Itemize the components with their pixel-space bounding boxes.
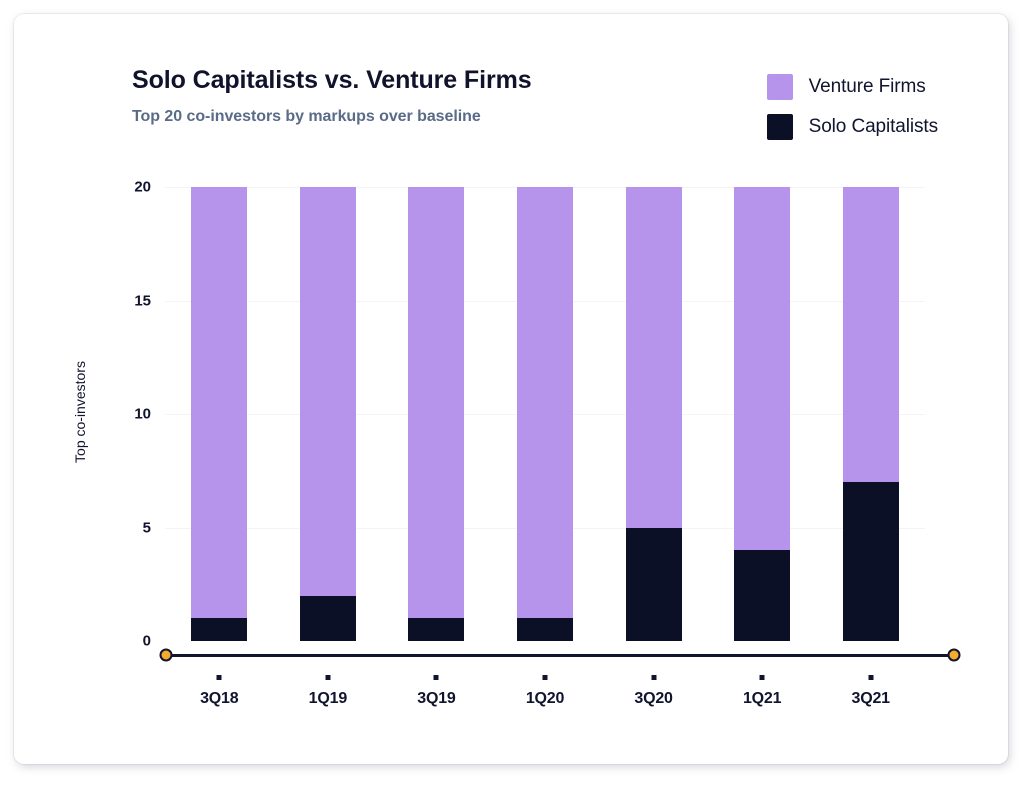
- bars-layer: [165, 187, 925, 641]
- bar-segment-solo-capitalists[interactable]: [408, 618, 464, 641]
- x-axis-tick-dot-icon: [325, 675, 330, 680]
- x-axis-tick-dot-icon: [217, 675, 222, 680]
- x-axis-end-dot-icon: [948, 649, 961, 662]
- bar-segment-solo-capitalists[interactable]: [843, 482, 899, 641]
- bar-segment-venture-firms[interactable]: [300, 187, 356, 596]
- y-axis-tick-label: 5: [143, 519, 151, 536]
- x-axis-tick-label: 1Q20: [526, 690, 564, 708]
- bar-group[interactable]: [626, 187, 682, 641]
- y-axis-tick-label: 15: [134, 292, 151, 309]
- plot-area: 05101520: [165, 187, 925, 641]
- bar-segment-venture-firms[interactable]: [626, 187, 682, 528]
- bar-group[interactable]: [300, 187, 356, 641]
- x-axis-tick-dot-icon: [543, 675, 548, 680]
- bar-group[interactable]: [517, 187, 573, 641]
- bar-group[interactable]: [843, 187, 899, 641]
- bar-segment-solo-capitalists[interactable]: [300, 596, 356, 641]
- x-axis-tick-label: 1Q19: [309, 690, 347, 708]
- x-axis-tick-label: 3Q18: [200, 690, 238, 708]
- chart-card: Solo Capitalists vs. Venture Firms Top 2…: [14, 14, 1008, 764]
- bar-segment-venture-firms[interactable]: [517, 187, 573, 618]
- x-axis-tick-label: 3Q20: [634, 690, 672, 708]
- plot-wrapper: Top co-investors 05101520 3Q181Q193Q191Q…: [14, 14, 1008, 764]
- y-axis-tick-label: 0: [143, 633, 151, 650]
- bar-group[interactable]: [408, 187, 464, 641]
- bar-segment-venture-firms[interactable]: [408, 187, 464, 618]
- x-axis-tick-label: 3Q19: [417, 690, 455, 708]
- x-axis-tick-dot-icon: [434, 675, 439, 680]
- x-axis-tick-dot-icon: [760, 675, 765, 680]
- x-axis-tick-label: 1Q21: [743, 690, 781, 708]
- bar-segment-solo-capitalists[interactable]: [734, 550, 790, 641]
- x-axis-tick-label: 3Q21: [852, 690, 890, 708]
- y-axis-title: Top co-investors: [72, 361, 88, 463]
- x-axis-tick-dot-icon: [651, 675, 656, 680]
- bar-segment-solo-capitalists[interactable]: [517, 618, 573, 641]
- x-axis-line: [165, 654, 955, 657]
- y-axis-tick-label: 20: [134, 179, 151, 196]
- gridline: [165, 641, 925, 642]
- bar-group[interactable]: [734, 187, 790, 641]
- x-axis-start-dot-icon: [160, 649, 173, 662]
- y-axis-tick-label: 10: [134, 406, 151, 423]
- bar-segment-solo-capitalists[interactable]: [626, 528, 682, 642]
- bar-segment-venture-firms[interactable]: [191, 187, 247, 618]
- bar-segment-solo-capitalists[interactable]: [191, 618, 247, 641]
- x-axis-tick-dot-icon: [868, 675, 873, 680]
- bar-group[interactable]: [191, 187, 247, 641]
- bar-segment-venture-firms[interactable]: [734, 187, 790, 550]
- bar-segment-venture-firms[interactable]: [843, 187, 899, 482]
